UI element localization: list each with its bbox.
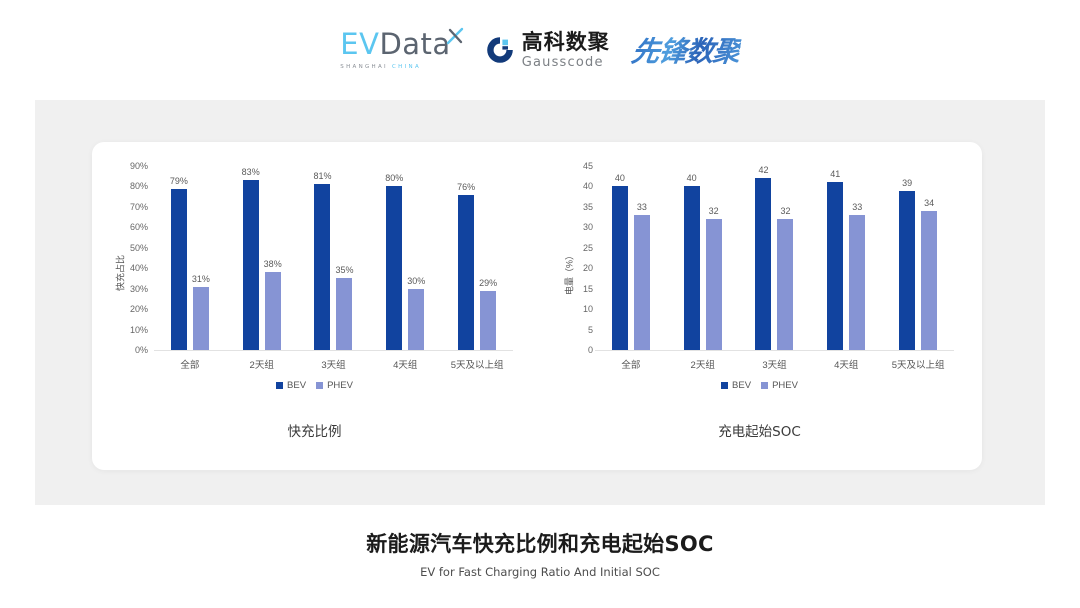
bar-phev[interactable]: 38% bbox=[265, 272, 281, 350]
evdata-tagline-city: SHANGHAI bbox=[340, 64, 388, 70]
gausscode-cn-name: 高科数聚 bbox=[522, 32, 610, 53]
y-axis-tick: 80% bbox=[130, 181, 148, 191]
page-title: 新能源汽车快充比例和充电起始SOC bbox=[0, 528, 1080, 558]
legend-label: BEV bbox=[732, 380, 751, 391]
bar-value-label: 33 bbox=[637, 202, 647, 212]
bar-phev[interactable]: 29% bbox=[480, 291, 496, 350]
y-axis-tick: 20 bbox=[583, 263, 593, 273]
x-axis-tick: 2天组 bbox=[226, 352, 298, 372]
bar-value-label: 83% bbox=[242, 167, 260, 177]
gausscode-text: 高科数聚 Gausscode bbox=[522, 32, 610, 69]
bar-bev[interactable]: 42 bbox=[755, 178, 771, 350]
y-axis-tick: 10% bbox=[130, 325, 148, 335]
logo-bar: EVData SHANGHAI CHINA 高科数聚 Gausscode bbox=[0, 22, 1080, 78]
bar-bev[interactable]: 81% bbox=[314, 184, 330, 350]
bar-value-label: 79% bbox=[170, 176, 188, 186]
plot-wrap-right: 电量（%） 051015202530354045 403340324232413… bbox=[537, 158, 982, 388]
y-axis-tick: 5 bbox=[588, 325, 593, 335]
y-axis-tick: 30 bbox=[583, 222, 593, 232]
x-axis-tick: 3天组 bbox=[739, 352, 811, 372]
gausscode-logo: 高科数聚 Gausscode bbox=[485, 32, 610, 69]
bar-value-label: 32 bbox=[709, 206, 719, 216]
y-axis-tick: 40% bbox=[130, 263, 148, 273]
bar-value-label: 42 bbox=[758, 165, 768, 175]
footer: 新能源汽车快充比例和充电起始SOC EV for Fast Charging R… bbox=[0, 528, 1080, 579]
y-axis-tick: 25 bbox=[583, 243, 593, 253]
x-axis-tick: 4天组 bbox=[369, 352, 441, 372]
bar-value-label: 34 bbox=[924, 198, 934, 208]
x-axis-tick: 全部 bbox=[595, 352, 667, 372]
y-axis-tick: 0 bbox=[588, 345, 593, 355]
bar-value-label: 31% bbox=[192, 274, 210, 284]
bar-value-label: 33 bbox=[852, 202, 862, 212]
bar-bev[interactable]: 39 bbox=[899, 191, 915, 350]
bar-value-label: 40 bbox=[615, 173, 625, 183]
legend-swatch-icon bbox=[721, 382, 728, 389]
legend-item-bev[interactable]: BEV bbox=[721, 380, 751, 391]
bar-group: 79%31% bbox=[154, 166, 226, 350]
bar-group: 3934 bbox=[882, 166, 954, 350]
bar-bev[interactable]: 80% bbox=[386, 186, 402, 350]
bar-value-label: 30% bbox=[407, 276, 425, 286]
bar-group: 4032 bbox=[667, 166, 739, 350]
y-axis-tick: 50% bbox=[130, 243, 148, 253]
y-axis-tick: 90% bbox=[130, 161, 148, 171]
bar-phev[interactable]: 31% bbox=[193, 287, 209, 350]
bar-value-label: 76% bbox=[457, 182, 475, 192]
y-axis-tick: 60% bbox=[130, 222, 148, 232]
bar-phev[interactable]: 32 bbox=[777, 219, 793, 350]
legend-swatch-icon bbox=[316, 382, 323, 389]
legend-swatch-icon bbox=[276, 382, 283, 389]
evdata-data-text: Data bbox=[379, 27, 450, 61]
plot-area-left: 79%31%83%38%81%35%80%30%76%29% bbox=[154, 166, 513, 351]
x-axis-ticks-right: 全部2天组3天组4天组5天及以上组 bbox=[595, 352, 954, 372]
bar-value-label: 35% bbox=[335, 265, 353, 275]
y-axis-tick: 40 bbox=[583, 181, 593, 191]
chart-title-left: 快充比例 bbox=[92, 420, 537, 440]
page-subtitle: EV for Fast Charging Ratio And Initial S… bbox=[0, 565, 1080, 579]
x-axis-tick: 3天组 bbox=[298, 352, 370, 372]
evdata-wordmark: EVData bbox=[340, 30, 450, 59]
legend-swatch-icon bbox=[761, 382, 768, 389]
legend-item-phev[interactable]: PHEV bbox=[316, 380, 353, 391]
x-mark-icon bbox=[445, 26, 465, 46]
bar-group: 83%38% bbox=[226, 166, 298, 350]
bar-group: 81%35% bbox=[298, 166, 370, 350]
legend-item-phev[interactable]: PHEV bbox=[761, 380, 798, 391]
evdata-logo: EVData SHANGHAI CHINA bbox=[340, 30, 462, 70]
y-axis-tick: 45 bbox=[583, 161, 593, 171]
x-axis-tick: 2天组 bbox=[667, 352, 739, 372]
y-axis-tick: 10 bbox=[583, 304, 593, 314]
bar-bev[interactable]: 41 bbox=[827, 182, 843, 350]
gausscode-c-mark-icon bbox=[485, 35, 515, 65]
y-axis-tick: 15 bbox=[583, 284, 593, 294]
evdata-tagline: SHANGHAI CHINA bbox=[340, 64, 450, 70]
evdata-ev-text: EV bbox=[340, 27, 379, 61]
bar-value-label: 41 bbox=[830, 169, 840, 179]
bar-group: 4232 bbox=[739, 166, 811, 350]
bar-value-label: 38% bbox=[264, 259, 282, 269]
y-axis-tick: 20% bbox=[130, 304, 148, 314]
bar-value-label: 29% bbox=[479, 278, 497, 288]
y-axis-tick: 30% bbox=[130, 284, 148, 294]
x-axis-tick: 5天及以上组 bbox=[882, 352, 954, 372]
bar-phev[interactable]: 33 bbox=[849, 215, 865, 350]
y-axis-ticks-right: 051015202530354045 bbox=[559, 166, 593, 350]
bar-value-label: 80% bbox=[385, 173, 403, 183]
y-axis-ticks-left: 0%10%20%30%40%50%60%70%80%90% bbox=[114, 166, 148, 350]
bar-value-label: 32 bbox=[780, 206, 790, 216]
bar-phev[interactable]: 30% bbox=[408, 289, 424, 350]
bar-bev[interactable]: 83% bbox=[243, 180, 259, 350]
y-axis-tick: 0% bbox=[135, 345, 148, 355]
chart-title-right: 充电起始SOC bbox=[537, 420, 982, 440]
bar-value-label: 81% bbox=[313, 171, 331, 181]
gausscode-en-name: Gausscode bbox=[522, 56, 610, 69]
bar-group: 76%29% bbox=[441, 166, 513, 350]
legend-label: BEV bbox=[287, 380, 306, 391]
legend-right: BEVPHEV bbox=[537, 380, 982, 391]
evdata-tagline-country: CHINA bbox=[392, 64, 421, 70]
bar-phev[interactable]: 33 bbox=[634, 215, 650, 350]
bar-bev[interactable]: 40 bbox=[684, 186, 700, 350]
bar-bev[interactable]: 76% bbox=[458, 195, 474, 350]
legend-label: PHEV bbox=[327, 380, 353, 391]
legend-item-bev[interactable]: BEV bbox=[276, 380, 306, 391]
bar-group: 4133 bbox=[810, 166, 882, 350]
x-axis-tick: 全部 bbox=[154, 352, 226, 372]
y-axis-tick: 70% bbox=[130, 202, 148, 212]
legend-label: PHEV bbox=[772, 380, 798, 391]
legend-left: BEVPHEV bbox=[92, 380, 537, 391]
bar-group: 4033 bbox=[595, 166, 667, 350]
xianfeng-logo: 先锋数聚 bbox=[632, 30, 740, 70]
bar-value-label: 39 bbox=[902, 178, 912, 188]
plot-wrap-left: 快充占比 0%10%20%30%40%50%60%70%80%90% 79%31… bbox=[92, 158, 537, 388]
chart-fast-charging-ratio: 快充占比 0%10%20%30%40%50%60%70%80%90% 79%31… bbox=[92, 148, 537, 448]
bar-bev[interactable]: 79% bbox=[171, 189, 187, 351]
chart-initial-soc: 电量（%） 051015202530354045 403340324232413… bbox=[537, 148, 982, 448]
bar-phev[interactable]: 32 bbox=[706, 219, 722, 350]
y-axis-tick: 35 bbox=[583, 202, 593, 212]
bar-value-label: 40 bbox=[687, 173, 697, 183]
charts-row: 快充占比 0%10%20%30%40%50%60%70%80%90% 79%31… bbox=[92, 148, 982, 448]
x-axis-tick: 5天及以上组 bbox=[441, 352, 513, 372]
plot-area-right: 40334032423241333934 bbox=[595, 166, 954, 351]
bar-phev[interactable]: 35% bbox=[336, 278, 352, 350]
x-axis-tick: 4天组 bbox=[810, 352, 882, 372]
bar-bev[interactable]: 40 bbox=[612, 186, 628, 350]
xianfeng-wordmark: 先锋数聚 bbox=[629, 30, 743, 70]
x-axis-ticks-left: 全部2天组3天组4天组5天及以上组 bbox=[154, 352, 513, 372]
bar-phev[interactable]: 34 bbox=[921, 211, 937, 350]
bar-group: 80%30% bbox=[369, 166, 441, 350]
